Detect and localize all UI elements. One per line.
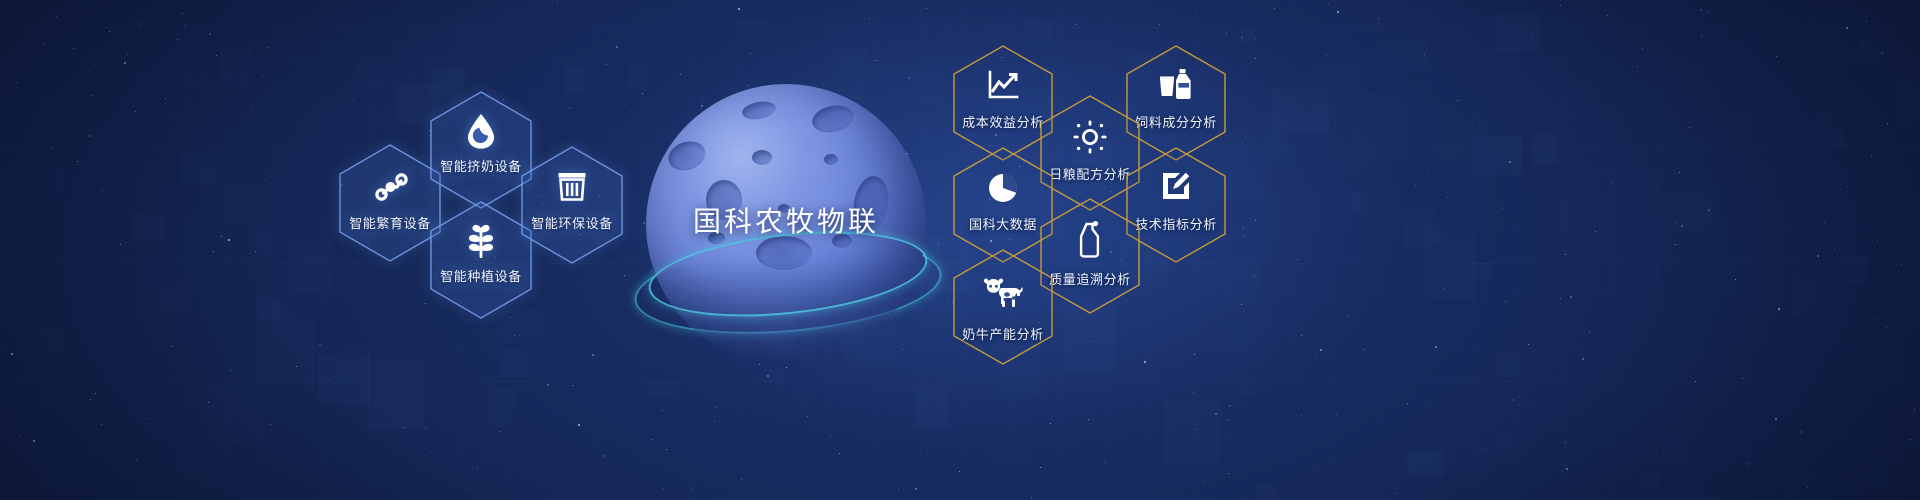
page-title: 国科农牧物联	[646, 200, 926, 240]
hex-dairy-cow-capacity-analysis[interactable]: 奶牛产能分析	[951, 248, 1055, 366]
planet-graphic: 国科农牧物联	[646, 84, 946, 384]
hexagon-outline	[519, 145, 625, 265]
dairy-cow-icon	[951, 276, 1055, 308]
hex-label: 智能种植设备	[428, 266, 534, 285]
hex-label: 奶牛产能分析	[951, 324, 1055, 343]
hex-label: 智能环保设备	[519, 213, 625, 232]
hex-smart-environmental-equipment[interactable]: 智能环保设备	[519, 145, 625, 265]
recycle-bin-icon	[519, 169, 625, 203]
hero-banner: 智能繁育设备 智能挤奶设备	[0, 0, 1920, 500]
